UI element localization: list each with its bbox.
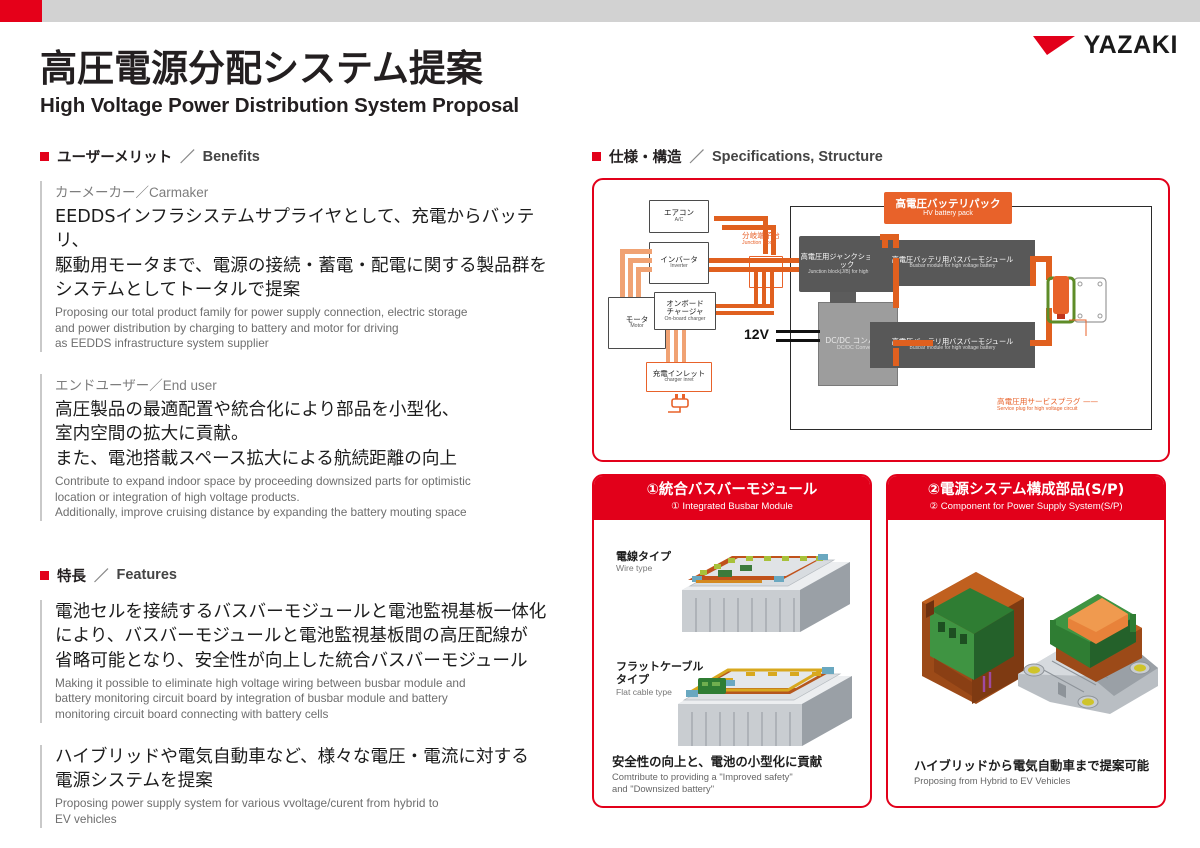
text-line: また、電池搭載スペース拡大による航続距離の向上 <box>55 447 565 471</box>
text-line: Proposing power supply system for variou… <box>55 796 565 812</box>
carmaker-subtitle-en: Carmaker <box>149 185 208 200</box>
wire-segment <box>620 249 625 299</box>
flat-cable-type-battery-module-image <box>672 634 857 752</box>
text-line: and "Downsized battery" <box>612 783 822 795</box>
square-bullet-icon <box>592 152 601 161</box>
panel-1-caption: 安全性の向上と、電池の小型化に貢献 Comtribute to providin… <box>612 754 822 795</box>
square-bullet-icon <box>40 571 49 580</box>
text-line: ハイブリッドや電気自動車など、様々な電圧・電流に対する <box>55 745 565 769</box>
junction-block-label: 分岐端子台 Junction block <box>742 232 780 247</box>
benefits-heading-slash: ／ <box>180 146 195 167</box>
yazaki-logo: YAZAKI <box>1033 33 1178 58</box>
page-title-en: High Voltage Power Distribution System P… <box>40 94 519 118</box>
carmaker-body-en: Proposing our total product family for p… <box>55 305 565 352</box>
charger-inlet-box: 充電インレット charger inret <box>646 362 712 392</box>
wire-segment <box>762 267 766 307</box>
product-panels: ①統合バスバーモジュール ① Integrated Busbar Module … <box>592 474 1166 808</box>
panel-2-caption-en: Proposing from Hybrid to EV Vehicles <box>914 775 1149 787</box>
dc-lead <box>776 339 820 342</box>
wire-type-label: 電線タイプ Wire type <box>616 550 671 574</box>
wire-segment <box>893 258 899 308</box>
panel-1-caption-ja: 安全性の向上と、電池の小型化に貢献 <box>612 754 822 770</box>
service-plug-icon <box>1046 276 1110 338</box>
top-accent-red-block <box>0 0 42 22</box>
carmaker-body-ja: EEDDSインフラシステムサプライヤとして、充電からバッテリ、 駆動用モータまで… <box>55 205 565 302</box>
text-line: location or integration of high voltage … <box>55 490 565 506</box>
end-user-subtitle-ja: エンドユーザー <box>55 378 149 394</box>
service-plug-label-en: Service plug for high voltage circuit <box>997 407 1098 413</box>
panel-2-caption: ハイブリッドから電気自動車まで提案可能 Proposing from Hybri… <box>914 758 1149 787</box>
text-line: and power distribution by charging to ba… <box>55 321 565 337</box>
aircon-box: エアコン A/C <box>649 200 709 233</box>
yazaki-swoosh-icon <box>1033 35 1077 56</box>
wire-type-label-ja: 電線タイプ <box>616 550 671 563</box>
text-line: battery monitoring circuit board by inte… <box>55 691 565 707</box>
busbar-module-bottom-en: Busbar module for high voltage battery <box>910 346 996 352</box>
text-line: 省略可能となり、安全性が向上した統合バスバーモジュール <box>55 649 565 673</box>
motor-label-en: Motor <box>630 324 643 330</box>
feature-block-busbar: 電池セルを接続するバスバーモジュールと電池監視基板一体化 により、バスバーモジュ… <box>40 600 565 723</box>
specifications-heading-ja: 仕様・構造 <box>609 146 682 167</box>
power-supply-box-image <box>1010 586 1160 721</box>
wire-segment <box>880 234 886 240</box>
yazaki-wordmark: YAZAKI <box>1084 33 1178 58</box>
specifications-heading-slash: ／ <box>690 146 705 167</box>
panel-2-header-en: ② Component for Power Supply System(S/P) <box>890 501 1162 513</box>
end-user-body-ja: 高圧製品の最適配置や統合化により部品を小型化、 室内空間の拡大に貢献。 また、電… <box>55 398 565 471</box>
end-user-subtitle-slash: ／ <box>149 378 163 394</box>
panel-1-header: ①統合バスバーモジュール ① Integrated Busbar Module <box>594 476 870 520</box>
specifications-heading: 仕様・構造 ／ Specifications, Structure <box>592 146 1172 167</box>
text-line: Contribute to expand indoor space by pro… <box>55 474 565 490</box>
wire-segment <box>893 234 899 248</box>
text-line: Comtribute to providing a "Improved safe… <box>612 771 822 783</box>
wire-segment <box>636 267 641 299</box>
wire-segment <box>716 304 774 308</box>
carmaker-subtitle: カーメーカー／Carmaker <box>55 181 565 201</box>
aircon-label-en: A/C <box>675 218 684 224</box>
text-line: 室内空間の拡大に貢献。 <box>55 422 565 446</box>
benefits-heading-en: Benefits <box>203 149 260 165</box>
text-line: により、バスバーモジュールと電池監視基板間の高圧配線が <box>55 624 565 648</box>
feature-busbar-en: Making it possible to eliminate high vol… <box>55 676 565 723</box>
wire-segment <box>716 311 774 315</box>
dcdc-connector-block <box>830 292 856 303</box>
panel-1-caption-en: Comtribute to providing a "Improved safe… <box>612 771 822 795</box>
panel-power-supply-components: ②電源システム構成部品(S/P) ② Component for Power S… <box>886 474 1166 808</box>
wire-segment <box>628 258 633 299</box>
charger-inlet-label-en: charger inret <box>664 378 693 384</box>
text-line: as EEDDS infrastructure system supplier <box>55 336 565 352</box>
specifications-heading-en: Specifications, Structure <box>712 149 883 165</box>
text-line: 電池セルを接続するバスバーモジュールと電池監視基板一体化 <box>55 600 565 624</box>
features-heading-slash: ／ <box>94 565 109 586</box>
benefits-heading: ユーザーメリット ／ Benefits <box>40 146 565 167</box>
features-heading: 特長 ／ Features <box>40 565 565 586</box>
feature-block-hybrid-ev: ハイブリッドや電気自動車など、様々な電圧・電流に対する 電源システムを提案 Pr… <box>40 745 565 828</box>
service-plug-label: 高電圧用サービスプラグ —— Service plug for high vol… <box>997 398 1098 413</box>
carmaker-subtitle-slash: ／ <box>135 185 149 201</box>
text-line: Additionally, improve cruising distance … <box>55 505 565 521</box>
text-line: 高圧製品の最適配置や統合化により部品を小型化、 <box>55 398 565 422</box>
wire-type-battery-module-image <box>674 518 854 638</box>
features-heading-ja: 特長 <box>57 565 86 586</box>
panel-2-caption-ja: ハイブリッドから電気自動車まで提案可能 <box>914 758 1149 774</box>
hv-battery-pack-tag-en: HV battery pack <box>923 210 973 218</box>
end-user-subtitle: エンドユーザー／End user <box>55 374 565 394</box>
text-line: 電源システムを提案 <box>55 769 565 793</box>
carmaker-subtitle-ja: カーメーカー <box>55 185 135 201</box>
features-heading-en: Features <box>117 567 177 583</box>
panel-1-header-en: ① Integrated Busbar Module <box>596 501 868 513</box>
benefit-block-carmaker: カーメーカー／Carmaker EEDDSインフラシステムサプライヤとして、充電… <box>40 181 565 352</box>
square-bullet-icon <box>40 152 49 161</box>
junction-block-label-en: Junction block <box>742 241 780 247</box>
wire-segment <box>754 267 758 307</box>
benefit-block-end-user: エンドユーザー／End user 高圧製品の最適配置や統合化により部品を小型化、… <box>40 374 565 521</box>
text-line: Proposing from Hybrid to EV Vehicles <box>914 775 1149 787</box>
text-line: Proposing our total product family for p… <box>55 305 565 321</box>
end-user-body-en: Contribute to expand indoor space by pro… <box>55 474 565 521</box>
wire-segment <box>770 267 774 307</box>
hv-battery-pack-tag-ja: 高電圧バッテリパック <box>896 198 1001 210</box>
left-column: ユーザーメリット ／ Benefits カーメーカー／Carmaker EEDD… <box>40 146 565 828</box>
voltage-12v-label: 12V <box>744 326 769 342</box>
text-line: monitoring circuit board connecting with… <box>55 707 565 723</box>
right-column: 仕様・構造 ／ Specifications, Structure 高電圧バッテ… <box>592 146 1172 462</box>
busbar-module-top-en: Busbar module for high voltage battery <box>910 264 996 270</box>
text-line: EV vehicles <box>55 812 565 828</box>
wire-segment <box>674 330 678 364</box>
inverter-box: インバータ Inverter <box>649 242 709 284</box>
wire-segment <box>714 216 768 221</box>
text-line: 駆動用モータまで、電源の接続・蓄電・配電に関する製品群を <box>55 254 565 278</box>
wire-type-label-en: Wire type <box>616 563 671 573</box>
page-title: 高圧電源分配システム提案 High Voltage Power Distribu… <box>40 48 519 118</box>
panel-2-header: ②電源システム構成部品(S/P) ② Component for Power S… <box>888 476 1164 520</box>
panel-1-header-ja: ①統合バスバーモジュール <box>596 482 868 499</box>
top-accent-bar <box>0 0 1200 22</box>
panel-integrated-busbar-module: ①統合バスバーモジュール ① Integrated Busbar Module … <box>592 474 872 808</box>
wire-segment <box>893 348 899 366</box>
onboard-charger-box: オンボード チャージャ On-board charger <box>654 292 716 330</box>
page-title-ja: 高圧電源分配システム提案 <box>40 48 519 89</box>
dc-lead <box>776 330 820 333</box>
feature-busbar-ja: 電池セルを接続するバスバーモジュールと電池監視基板一体化 により、バスバーモジュ… <box>55 600 565 673</box>
end-user-subtitle-en: End user <box>163 378 217 393</box>
wire-segment <box>893 340 933 346</box>
inverter-label-en: Inverter <box>670 264 688 270</box>
feature-hybrid-ja: ハイブリッドや電気自動車など、様々な電圧・電流に対する 電源システムを提案 <box>55 745 565 794</box>
onboard-charger-label-en: On-board charger <box>665 317 706 323</box>
wire-segment <box>682 330 686 364</box>
feature-hybrid-en: Proposing power supply system for variou… <box>55 796 565 827</box>
hv-battery-pack-tag: 高電圧バッテリパック HV battery pack <box>884 192 1012 224</box>
power-plug-icon <box>668 394 692 416</box>
panel-2-header-ja: ②電源システム構成部品(S/P) <box>890 482 1162 499</box>
text-line: Making it possible to eliminate high vol… <box>55 676 565 692</box>
benefits-heading-ja: ユーザーメリット <box>57 146 172 167</box>
system-diagram-panel: 高電圧バッテリパック HV battery pack エアコン A/C インバー… <box>592 178 1170 462</box>
text-line: EEDDSインフラシステムサプライヤとして、充電からバッテリ、 <box>55 205 565 254</box>
wire-segment <box>722 225 776 230</box>
text-line: システムとしてトータルで提案 <box>55 278 565 302</box>
wire-segment <box>666 330 670 364</box>
